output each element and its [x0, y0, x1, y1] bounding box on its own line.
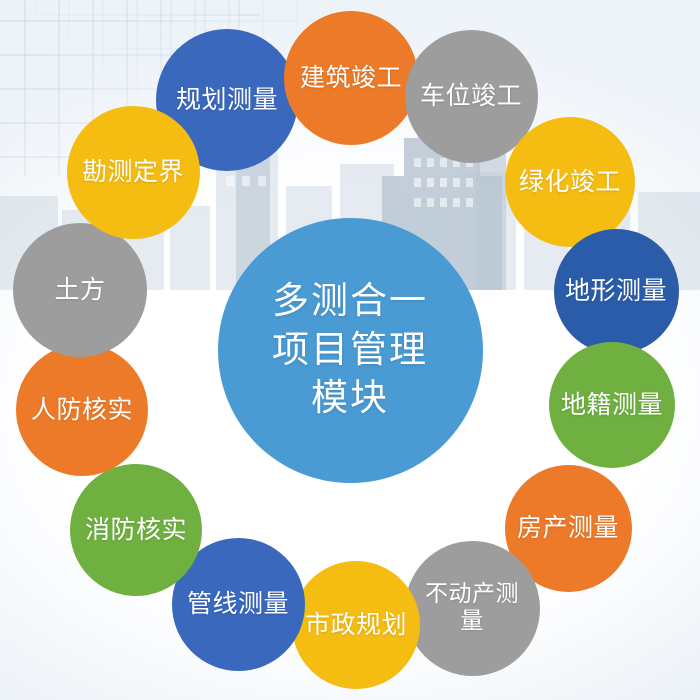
spoke-label-lvhua-jungong: 绿化竣工 [509, 167, 631, 197]
spoke-label-renfang-heshi: 人防核实 [21, 395, 143, 425]
spoke-label-chewei-jungong: 车位竣工 [410, 81, 532, 111]
center-hub-label: 多测合一项目管理模块 [254, 277, 446, 423]
spoke-circle-budongchan[interactable]: 不动产测量 [405, 541, 540, 676]
spoke-label-budongchan: 不动产测量 [405, 581, 540, 635]
spoke-circle-dixing-celiang[interactable]: 地形测量 [554, 229, 679, 354]
spoke-label-tufang: 土方 [44, 275, 115, 305]
spoke-circle-diji-celiang[interactable]: 地籍测量 [549, 342, 675, 468]
spoke-circle-kance-dingjie[interactable]: 勘测定界 [67, 106, 200, 239]
spoke-label-xiaofang-heshi: 消防核实 [75, 515, 197, 545]
spoke-label-jianzhu-jungong: 建筑竣工 [290, 63, 412, 93]
spoke-circle-shizheng-guihua[interactable]: 市政规划 [292, 561, 420, 689]
spoke-label-diji-celiang: 地籍测量 [551, 390, 673, 420]
spoke-label-fangchan-celiang: 房产测量 [507, 513, 629, 543]
spoke-label-shizheng-guihua: 市政规划 [295, 610, 417, 640]
spoke-label-guanxian-celiang: 管线测量 [177, 589, 299, 619]
spoke-label-dixing-celiang: 地形测量 [555, 276, 677, 306]
spoke-label-guihua-celiang: 规划测量 [166, 85, 288, 115]
center-hub-circle[interactable]: 多测合一项目管理模块 [218, 218, 483, 483]
diagram-canvas: 规划测量建筑竣工车位竣工绿化竣工地形测量地籍测量房产测量不动产测量市政规划管线测… [0, 0, 700, 700]
spoke-circle-renfang-heshi[interactable]: 人防核实 [16, 344, 148, 476]
spoke-label-kance-dingjie: 勘测定界 [72, 157, 194, 187]
spoke-circle-jianzhu-jungong[interactable]: 建筑竣工 [284, 11, 418, 145]
spoke-circle-xiaofang-heshi[interactable]: 消防核实 [70, 464, 202, 596]
spoke-circle-tufang[interactable]: 土方 [13, 223, 147, 357]
spoke-circle-lvhua-jungong[interactable]: 绿化竣工 [505, 117, 635, 247]
